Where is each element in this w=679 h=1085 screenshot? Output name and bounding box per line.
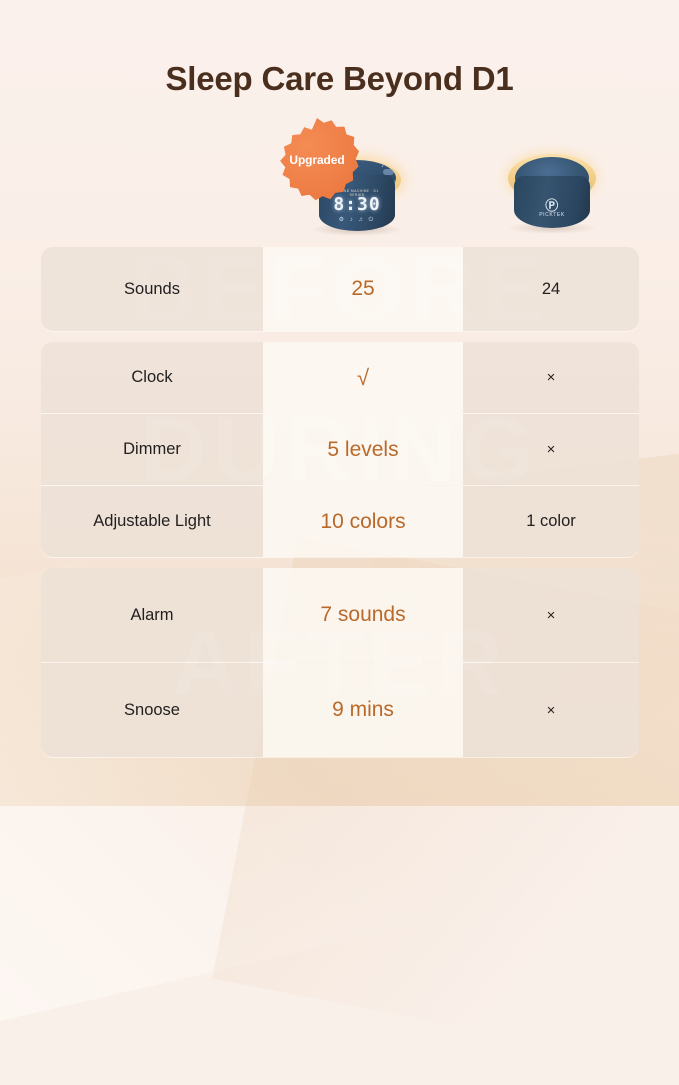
cross-icon: ×	[547, 702, 556, 719]
page-title: Sleep Care Beyond D1	[0, 60, 679, 98]
upgraded-badge-label: Upgraded	[275, 118, 359, 202]
old-model-value-cell: 1 color	[463, 486, 639, 557]
new-model-value-cell: 25	[263, 247, 463, 331]
feature-name-cell: Dimmer	[41, 414, 263, 485]
table-row: Alarm 7 sounds ×	[41, 568, 639, 663]
new-model-value-cell: 7 sounds	[263, 568, 463, 662]
check-icon: √	[357, 365, 369, 391]
feature-name-cell: Sounds	[41, 247, 263, 331]
table-row: Clock √ ×	[41, 342, 639, 414]
comparison-block: DURING Clock √ × Dimmer 5 levels × Adjus…	[41, 342, 639, 557]
feature-name-cell: Clock	[41, 342, 263, 413]
table-row: Dimmer 5 levels ×	[41, 414, 639, 486]
feature-name-cell: Snoose	[41, 663, 263, 757]
table-row: Snoose 9 mins ×	[41, 663, 639, 757]
old-model-value-cell: ×	[463, 414, 639, 485]
display-status-icons: ⚙ ♪ ♫ ⏻	[329, 216, 385, 224]
cross-icon: ×	[547, 369, 556, 386]
comparison-block: AFTER Alarm 7 sounds × Snoose 9 mins ×	[41, 568, 639, 757]
feature-name-cell: Adjustable Light	[41, 486, 263, 557]
product-comparison-page: Sleep Care Beyond D1 ♪ SOUND MACHINE · D…	[0, 0, 679, 806]
new-model-value-cell: √	[263, 342, 463, 413]
new-model-value-cell: 10 colors	[263, 486, 463, 557]
brand-logo-icon: Ⓟ	[530, 199, 574, 212]
old-model-value-cell: ×	[463, 663, 639, 757]
table-row: Sounds 25 24	[41, 247, 639, 331]
cross-icon: ×	[547, 441, 556, 458]
music-note-icon: ♪	[381, 162, 385, 169]
old-model-value-cell: ×	[463, 342, 639, 413]
brand-logo-text: PICKTEK	[539, 212, 565, 218]
previous-product-image: ●●● Ⓟ PICKTEK	[502, 142, 602, 238]
comparison-block: BEFORE Sounds 25 24	[41, 247, 639, 331]
old-model-value-cell: 24	[463, 247, 639, 331]
product-image-row: ♪ SOUND MACHINE · D1 SERIES 8:30 ⚙ ♪ ♫ ⏻…	[0, 118, 679, 248]
upgraded-badge: Upgraded	[275, 118, 359, 202]
new-model-value-cell: 5 levels	[263, 414, 463, 485]
new-model-value-cell: 9 mins	[263, 663, 463, 757]
cross-icon: ×	[547, 607, 556, 624]
table-row: Adjustable Light 10 colors 1 color	[41, 486, 639, 557]
brand-logo: Ⓟ PICKTEK	[530, 199, 574, 218]
comparison-table: BEFORE Sounds 25 24 DURING Clock √ × Dim…	[41, 247, 639, 768]
feature-name-cell: Alarm	[41, 568, 263, 662]
old-model-value-cell: ×	[463, 568, 639, 662]
